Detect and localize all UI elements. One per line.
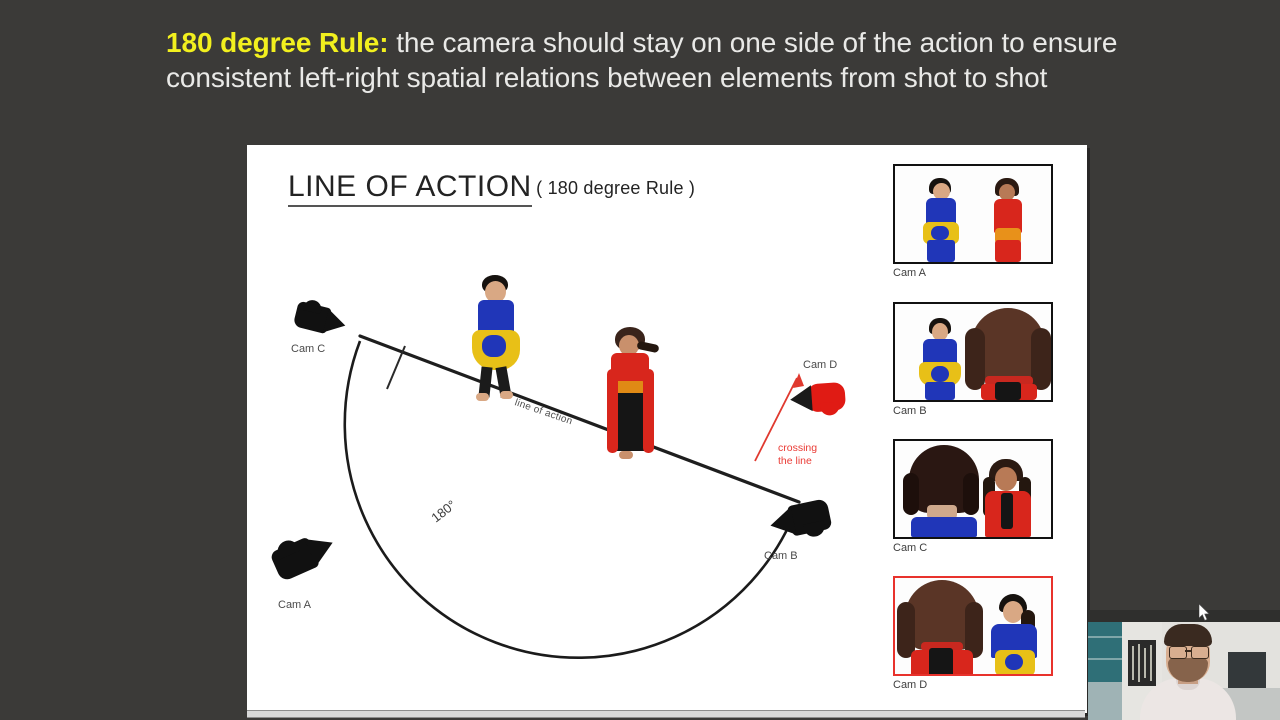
presentation-screen: 180 degree Rule: the camera should stay … [0, 0, 1280, 720]
thumb-figure-blue-facing [919, 318, 963, 400]
thumbnail-label-cam-b: Cam B [893, 405, 1055, 417]
webcam-presenter-hair [1164, 624, 1212, 646]
head [995, 467, 1017, 491]
thumbnail-frame[interactable] [893, 439, 1053, 539]
glasses-lens-right-icon [1191, 646, 1209, 659]
head [1003, 601, 1023, 623]
back-panel [995, 382, 1021, 400]
robe-left [607, 369, 618, 453]
braid-right [1031, 328, 1051, 390]
hair-braid [636, 341, 659, 353]
sash-pattern [931, 366, 949, 382]
crossing-line-1: crossing [778, 442, 817, 455]
shoulders [911, 517, 977, 537]
diagram-character-red [605, 327, 661, 463]
skirt-pattern [482, 335, 506, 357]
thumbnail-cam-a[interactable]: Cam A [893, 164, 1055, 279]
webcam-top-letterbox [1088, 610, 1280, 622]
thumbnail-frame-highlighted[interactable] [893, 576, 1053, 676]
webcam-shelf-line [1088, 636, 1122, 638]
thumb-figure-red [989, 178, 1027, 262]
camera-label-cam-b: Cam B [764, 550, 798, 562]
crossing-line-2: the line [778, 455, 817, 468]
heading-highlight: 180 degree Rule: [166, 27, 389, 58]
foot [619, 451, 633, 459]
thumb-figure-red-facing [981, 459, 1043, 537]
line-of-action-stroke [360, 336, 799, 502]
crossing-the-line-label: crossing the line [778, 442, 817, 468]
slide-heading-text: 180 degree Rule: the camera should stay … [166, 25, 1126, 95]
glasses-lens-left-icon [1169, 646, 1187, 659]
robe-right [643, 369, 654, 453]
thumbnail-cam-b[interactable]: Cam B [893, 302, 1055, 417]
trousers [614, 393, 644, 451]
slide-bottom-strip [247, 710, 1085, 718]
semicircle-arc [345, 341, 797, 658]
webcam-shelf-line [1088, 658, 1122, 660]
sash-pattern [931, 226, 949, 240]
back-panel [929, 648, 953, 676]
webcam-wall-art [1128, 640, 1156, 686]
skirt [925, 382, 955, 400]
thumbnail-frame[interactable] [893, 164, 1053, 264]
skirt [995, 240, 1021, 262]
presenter-webcam-overlay[interactable] [1088, 610, 1280, 720]
thumbnail-label-cam-c: Cam C [893, 542, 1055, 554]
diagram-character-blue [470, 275, 528, 403]
cam-c-sightline [387, 346, 405, 389]
thumbnail-frame[interactable] [893, 302, 1053, 402]
camera-label-cam-c: Cam C [291, 343, 325, 355]
mouse-cursor-icon [1199, 604, 1211, 622]
camera-label-cam-d: Cam D [803, 359, 837, 371]
hair-strand-right [963, 473, 979, 515]
line-of-action-diagram [247, 145, 887, 713]
braid-left [965, 328, 985, 390]
webcam-shelf [1088, 618, 1122, 682]
skirt [927, 240, 955, 262]
camera-hump [820, 402, 840, 416]
thumb-figure-red-back [897, 580, 989, 676]
foot-left [476, 393, 489, 401]
camera-label-cam-a: Cam A [278, 599, 311, 611]
glasses-bridge-icon [1185, 650, 1191, 652]
camera-lens [789, 385, 812, 412]
thumbnail-cam-d[interactable]: Cam D [893, 576, 1055, 691]
thumb-figure-blue-back [901, 445, 987, 537]
braid-left [897, 602, 915, 658]
slide-image: LINE OF ACTION ( 180 degree Rule ) line … [247, 145, 1087, 713]
thumbnail-label-cam-a: Cam A [893, 267, 1055, 279]
foot-right [500, 391, 513, 399]
thumb-figure-blue-facing [987, 594, 1049, 676]
thumbnail-cam-c[interactable]: Cam C [893, 439, 1055, 554]
front-panel [1001, 493, 1013, 529]
camera-lens [323, 309, 348, 337]
webcam-dark-panel [1228, 652, 1266, 688]
thumb-figure-blue [921, 178, 961, 262]
thumbnail-label-cam-d: Cam D [893, 679, 1055, 691]
thumb-figure-red-back [965, 308, 1053, 400]
hair-strand-left [903, 473, 919, 515]
sash-pattern [1005, 654, 1023, 670]
camera-icon-cam-d [784, 378, 847, 419]
